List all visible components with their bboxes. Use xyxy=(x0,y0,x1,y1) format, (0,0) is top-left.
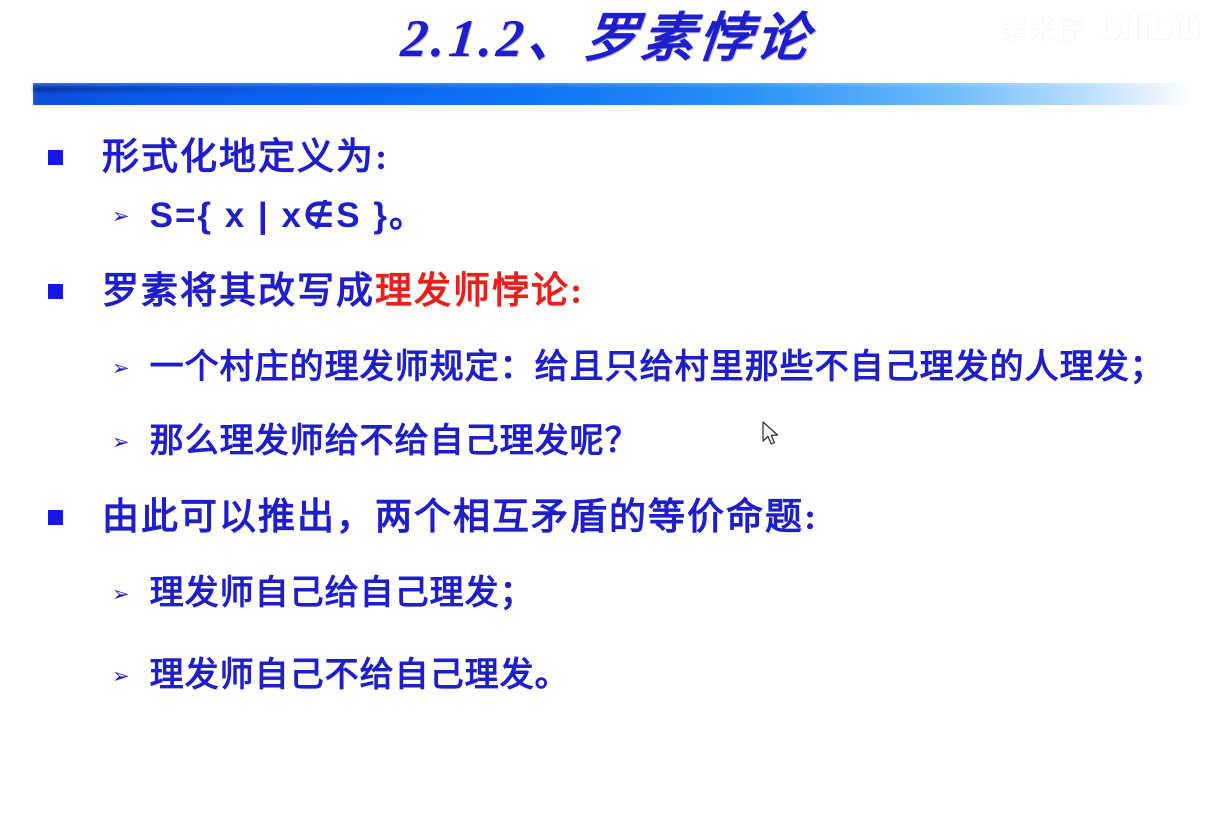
bullet-level2-barber-question: ➢ 那么理发师给不给自己理发呢？ xyxy=(0,416,1214,468)
arrow-bullet-icon: ➢ xyxy=(112,651,130,701)
spacer xyxy=(0,246,1214,264)
bullet-level1-text: 形式化地定义为: xyxy=(102,130,389,186)
bullet-text-blue-part: 罗素将其改写成 xyxy=(102,271,375,312)
spacer xyxy=(0,550,1214,568)
arrow-bullet-icon: ➢ xyxy=(112,569,130,619)
bullet-level1-barber-paradox: 罗素将其改写成理发师悖论: xyxy=(0,264,1214,320)
presentation-slide: 栗米仔 bilibili 2.1.2、罗素悖论 形式化地定义为: ➢ S={ x… xyxy=(0,0,1214,817)
square-bullet-icon xyxy=(48,150,63,165)
square-bullet-icon xyxy=(48,284,63,299)
bullet-level2-text: 理发师自己给自己理发； xyxy=(150,568,535,620)
slide-body: 形式化地定义为: ➢ S={ x | x∉S }。 罗素将其改写成理发师悖论: … xyxy=(0,130,1214,706)
title-area: 2.1.2、罗素悖论 xyxy=(0,0,1214,70)
arrow-bullet-icon: ➢ xyxy=(112,417,130,467)
spacer xyxy=(0,324,1214,342)
arrow-bullet-icon: ➢ xyxy=(112,343,130,393)
bullet-text-red-part: 理发师悖论: xyxy=(375,271,584,312)
bullet-level2-text: 理发师自己不给自己理发。 xyxy=(150,650,570,702)
bullet-level2-set-notation: ➢ S={ x | x∉S }。 xyxy=(0,190,1214,242)
bullet-level2-text: 那么理发师给不给自己理发呢？ xyxy=(150,416,640,468)
bullet-level2-proposition-two: ➢ 理发师自己不给自己理发。 xyxy=(0,650,1214,702)
spacer xyxy=(0,398,1214,416)
bullet-level2-proposition-one: ➢ 理发师自己给自己理发； xyxy=(0,568,1214,620)
title-divider-bar xyxy=(33,83,1193,105)
arrow-bullet-icon: ➢ xyxy=(112,191,130,241)
bullet-level2-text: S={ x | x∉S }。 xyxy=(150,190,426,242)
bullet-level1-text: 由此可以推出，两个相互矛盾的等价命题: xyxy=(102,490,818,546)
square-bullet-icon xyxy=(48,510,63,525)
spacer xyxy=(0,472,1214,490)
bullet-level1-contradiction: 由此可以推出，两个相互矛盾的等价命题: xyxy=(0,490,1214,546)
bullet-level1-definition: 形式化地定义为: xyxy=(0,130,1214,186)
spacer xyxy=(0,624,1214,650)
bullet-level2-text: 一个村庄的理发师规定：给且只给村里那些不自己理发的人理发； xyxy=(150,342,1165,394)
bullet-level1-text: 罗素将其改写成理发师悖论: xyxy=(102,264,584,320)
slide-title: 2.1.2、罗素悖论 xyxy=(398,0,817,72)
bullet-level2-barber-rule: ➢ 一个村庄的理发师规定：给且只给村里那些不自己理发的人理发； xyxy=(0,342,1214,394)
